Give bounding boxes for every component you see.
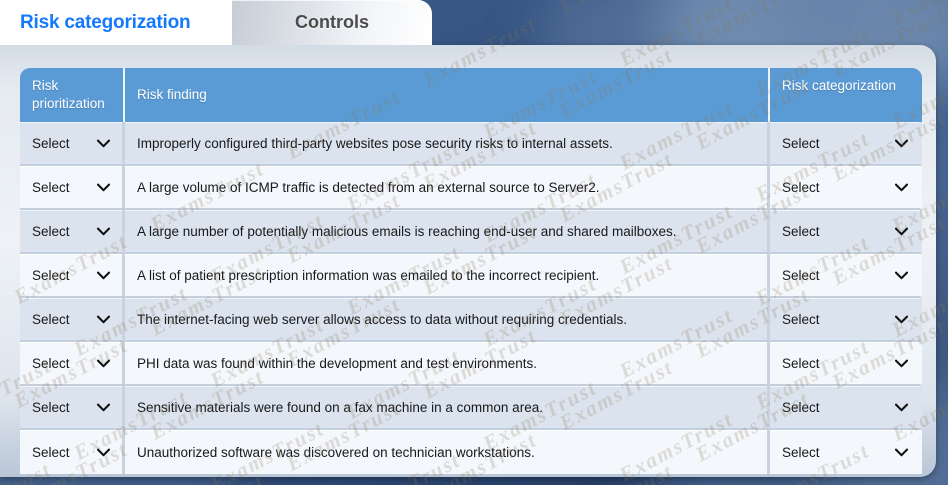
chevron-down-icon[interactable] — [97, 271, 110, 280]
risk-finding-text: PHI data was found within the developmen… — [137, 355, 755, 373]
cell-risk-prioritization: Select — [20, 430, 125, 474]
dropdown-value: Select — [782, 312, 820, 327]
chevron-down-icon[interactable] — [97, 403, 110, 412]
risk-categorization-dropdown-4[interactable]: Select — [782, 268, 908, 283]
risk-finding-text: The internet-facing web server allows ac… — [137, 311, 755, 329]
risk-finding-text: Unauthorized software was discovered on … — [137, 444, 755, 462]
chevron-down-icon[interactable] — [97, 183, 110, 192]
chevron-down-icon[interactable] — [895, 183, 908, 192]
table-row: SelectSensitive materials were found on … — [20, 386, 922, 430]
column-header-risk-categorization: Risk categorization — [770, 68, 922, 122]
risk-table: Risk prioritization Risk finding Risk ca… — [20, 68, 922, 474]
table-row: SelectA large number of potentially mali… — [20, 210, 922, 254]
risk-prioritization-dropdown-1[interactable]: Select — [32, 136, 110, 151]
cell-risk-prioritization: Select — [20, 166, 125, 210]
risk-categorization-dropdown-1[interactable]: Select — [782, 136, 908, 151]
risk-categorization-dropdown-8[interactable]: Select — [782, 445, 908, 460]
cell-risk-categorization: Select — [770, 386, 922, 430]
risk-finding-text: A list of patient prescription informati… — [137, 267, 755, 285]
risk-finding-text: A large number of potentially malicious … — [137, 223, 755, 241]
chevron-down-icon[interactable] — [97, 227, 110, 236]
cell-risk-prioritization: Select — [20, 210, 125, 254]
table-header-row: Risk prioritization Risk finding Risk ca… — [20, 68, 922, 122]
risk-prioritization-dropdown-8[interactable]: Select — [32, 445, 110, 460]
cell-risk-finding: A list of patient prescription informati… — [125, 254, 770, 298]
cell-risk-categorization: Select — [770, 210, 922, 254]
risk-categorization-dropdown-6[interactable]: Select — [782, 356, 908, 371]
dropdown-value: Select — [782, 136, 820, 151]
risk-finding-text: A large volume of ICMP traffic is detect… — [137, 179, 755, 197]
table-body: SelectImproperly configured third-party … — [20, 122, 922, 474]
dropdown-value: Select — [32, 312, 70, 327]
cell-risk-prioritization: Select — [20, 342, 125, 386]
cell-risk-finding: Sensitive materials were found on a fax … — [125, 386, 770, 430]
risk-prioritization-dropdown-4[interactable]: Select — [32, 268, 110, 283]
dropdown-value: Select — [32, 400, 70, 415]
tab-label: Controls — [295, 12, 369, 33]
chevron-down-icon[interactable] — [97, 315, 110, 324]
cell-risk-finding: Unauthorized software was discovered on … — [125, 430, 770, 474]
chevron-down-icon[interactable] — [895, 315, 908, 324]
cell-risk-categorization: Select — [770, 254, 922, 298]
cell-risk-finding: A large number of potentially malicious … — [125, 210, 770, 254]
cell-risk-finding: Improperly configured third-party websit… — [125, 122, 770, 166]
chevron-down-icon[interactable] — [895, 227, 908, 236]
table-row: SelectUnauthorized software was discover… — [20, 430, 922, 474]
tab-bar: Risk categorization Controls — [0, 0, 432, 45]
dropdown-value: Select — [782, 224, 820, 239]
table-row: SelectThe internet-facing web server all… — [20, 298, 922, 342]
tab-label: Risk categorization — [20, 12, 190, 34]
risk-prioritization-dropdown-6[interactable]: Select — [32, 356, 110, 371]
dropdown-value: Select — [32, 445, 70, 460]
cell-risk-prioritization: Select — [20, 386, 125, 430]
column-header-risk-finding: Risk finding — [125, 68, 770, 122]
chevron-down-icon[interactable] — [895, 271, 908, 280]
content-panel: Risk prioritization Risk finding Risk ca… — [0, 45, 936, 477]
table-row: SelectA large volume of ICMP traffic is … — [20, 166, 922, 210]
tab-risk-categorization[interactable]: Risk categorization — [0, 0, 240, 45]
risk-prioritization-dropdown-5[interactable]: Select — [32, 312, 110, 327]
dropdown-value: Select — [782, 445, 820, 460]
column-header-risk-prioritization: Risk prioritization — [20, 68, 125, 122]
risk-categorization-dropdown-7[interactable]: Select — [782, 400, 908, 415]
dropdown-value: Select — [782, 180, 820, 195]
chevron-down-icon[interactable] — [97, 139, 110, 148]
risk-categorization-dropdown-2[interactable]: Select — [782, 180, 908, 195]
risk-prioritization-dropdown-2[interactable]: Select — [32, 180, 110, 195]
dropdown-value: Select — [32, 180, 70, 195]
cell-risk-finding: The internet-facing web server allows ac… — [125, 298, 770, 342]
dropdown-value: Select — [782, 356, 820, 371]
risk-prioritization-dropdown-3[interactable]: Select — [32, 224, 110, 239]
cell-risk-prioritization: Select — [20, 254, 125, 298]
dropdown-value: Select — [32, 136, 70, 151]
tab-controls[interactable]: Controls — [232, 0, 432, 45]
table-row: SelectImproperly configured third-party … — [20, 122, 922, 166]
chevron-down-icon[interactable] — [895, 139, 908, 148]
table-head: Risk prioritization Risk finding Risk ca… — [20, 68, 922, 122]
risk-finding-text: Sensitive materials were found on a fax … — [137, 399, 755, 417]
risk-finding-text: Improperly configured third-party websit… — [137, 135, 755, 153]
cell-risk-categorization: Select — [770, 166, 922, 210]
chevron-down-icon[interactable] — [97, 359, 110, 368]
dropdown-value: Select — [782, 400, 820, 415]
cell-risk-prioritization: Select — [20, 122, 125, 166]
table-row: SelectPHI data was found within the deve… — [20, 342, 922, 386]
cell-risk-finding: PHI data was found within the developmen… — [125, 342, 770, 386]
risk-categorization-dropdown-5[interactable]: Select — [782, 312, 908, 327]
cell-risk-categorization: Select — [770, 430, 922, 474]
cell-risk-prioritization: Select — [20, 298, 125, 342]
cell-risk-categorization: Select — [770, 298, 922, 342]
risk-prioritization-dropdown-7[interactable]: Select — [32, 400, 110, 415]
table-row: SelectA list of patient prescription inf… — [20, 254, 922, 298]
dropdown-value: Select — [32, 224, 70, 239]
chevron-down-icon[interactable] — [895, 403, 908, 412]
dropdown-value: Select — [782, 268, 820, 283]
cell-risk-categorization: Select — [770, 122, 922, 166]
chevron-down-icon[interactable] — [895, 448, 908, 457]
risk-categorization-dropdown-3[interactable]: Select — [782, 224, 908, 239]
cell-risk-finding: A large volume of ICMP traffic is detect… — [125, 166, 770, 210]
screenshot-root: Risk prioritization Risk finding Risk ca… — [0, 0, 948, 485]
chevron-down-icon[interactable] — [895, 359, 908, 368]
chevron-down-icon[interactable] — [97, 448, 110, 457]
cell-risk-categorization: Select — [770, 342, 922, 386]
dropdown-value: Select — [32, 268, 70, 283]
dropdown-value: Select — [32, 356, 70, 371]
